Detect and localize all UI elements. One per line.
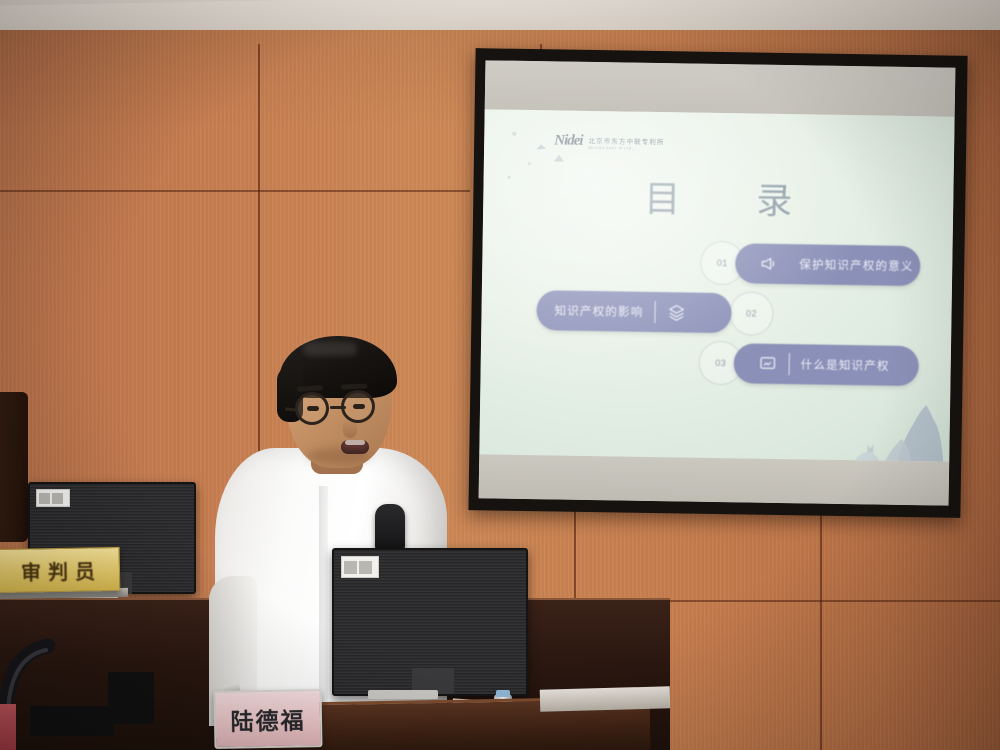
judge-nameplate: 审判员	[0, 547, 120, 593]
toc-divider	[654, 301, 655, 323]
toc-item-03[interactable]: 什么是知识产权	[733, 343, 919, 386]
speaker-name-badge: 陆德福	[214, 689, 323, 749]
scene-root: Nidei 北京市东方中联专利所 BEIJING EAST IP LTD. 目 …	[0, 0, 1000, 750]
monitor-icon	[758, 354, 778, 374]
toc-item-02-label: 知识产权的影响	[554, 302, 643, 319]
toc-number-03-label: 03	[715, 358, 726, 368]
monitor-center	[332, 548, 528, 696]
toc-number-01-label: 01	[717, 258, 728, 268]
speaker-teeth	[345, 440, 365, 445]
toc-item-02[interactable]: 知识产权的影响	[536, 290, 732, 333]
screen-top-band	[485, 60, 956, 116]
desk-edge-cap	[540, 686, 671, 711]
wall-seam	[820, 492, 822, 750]
toc-number-02-label: 02	[746, 308, 757, 318]
slide-title: 目 录	[483, 167, 954, 226]
toc-item-01-label: 保护知识产权的意义	[799, 256, 914, 274]
presentation-slide: Nidei 北京市东方中联专利所 BEIJING EAST IP LTD. 目 …	[479, 109, 954, 461]
logo-mark: Nidei	[554, 132, 583, 149]
judge-nameplate-text: 审判员	[14, 555, 102, 586]
desk-equipment	[30, 706, 114, 736]
toc-item-01[interactable]: 保护知识产权的意义	[735, 243, 921, 286]
microphone-head	[375, 504, 405, 552]
logo-company: 北京市东方中联专利所 BEIJING EAST IP LTD.	[588, 135, 664, 151]
megaphone-icon	[759, 254, 777, 274]
round-glasses-icon	[289, 392, 399, 426]
bottle-cap	[496, 690, 510, 697]
chair-back	[0, 392, 28, 542]
desk-equipment	[108, 672, 154, 724]
layers-icon	[666, 302, 686, 322]
monitor-left-sticker	[36, 489, 70, 507]
toc-divider	[789, 353, 790, 375]
screen-bottom-band	[479, 454, 950, 505]
projection-screen: Nidei 北京市东方中联专利所 BEIJING EAST IP LTD. 目 …	[468, 48, 967, 518]
wall-seam	[0, 190, 470, 192]
mountain-illustration	[843, 382, 944, 462]
logo-company-cn: 北京市东方中联专利所	[588, 135, 664, 146]
slide-logo: Nidei 北京市东方中联专利所 BEIJING EAST IP LTD.	[554, 132, 665, 151]
logo-company-sub: BEIJING EAST IP LTD.	[588, 146, 664, 151]
monitor-center-sticker	[341, 556, 379, 578]
red-marker	[0, 704, 16, 750]
toc-number-02: 02	[729, 291, 774, 336]
toc-item-03-label: 什么是知识产权	[801, 356, 890, 373]
monitor-center-base	[368, 690, 438, 699]
screen-surface: Nidei 北京市东方中联专利所 BEIJING EAST IP LTD. 目 …	[479, 60, 956, 505]
speaker-name-badge-text: 陆德福	[230, 701, 306, 736]
hair-highlight	[303, 342, 357, 356]
